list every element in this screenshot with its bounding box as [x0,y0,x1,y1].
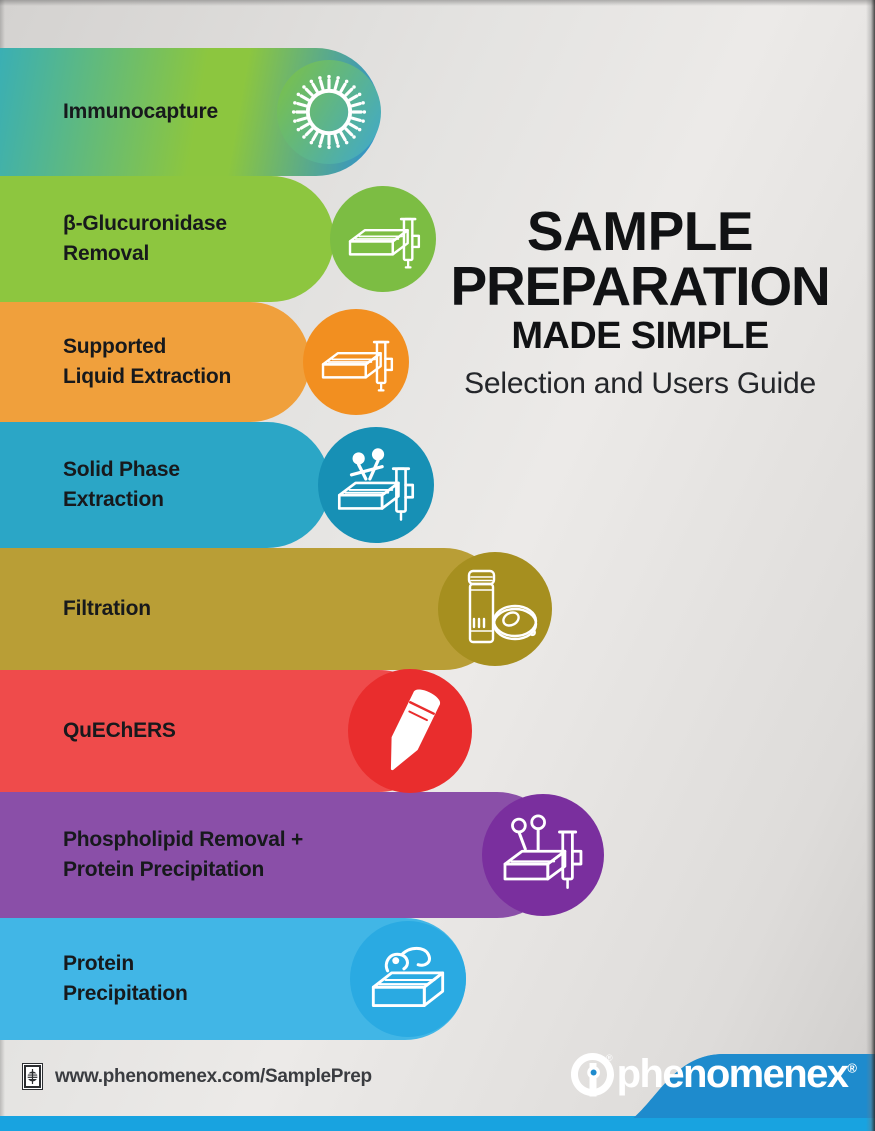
technique-bar-solid-phase-extraction[interactable]: Solid Phase Extraction [0,422,330,548]
phenomenex-wordmark: phenomenex® [617,1054,857,1094]
technique-label: Supported Liquid Extraction [63,332,231,392]
technique-bar-filtration[interactable]: Filtration [0,548,505,670]
technique-bar-supported-liquid-extraction[interactable]: Supported Liquid Extraction [0,302,310,422]
page-title-line-2: PREPARATION [430,258,850,314]
technique-label: Filtration [63,594,151,624]
brand-name-text: phenomenex [617,1052,848,1096]
qr-code-icon [22,1063,43,1090]
centrifuge-tube-icon [348,669,472,793]
technique-label: Solid Phase Extraction [63,455,180,515]
footer-url-label[interactable]: www.phenomenex.com/SamplePrep [55,1066,372,1088]
phenomenex-p-logo-icon: ® [569,1051,616,1098]
registered-mark: ® [847,1061,857,1076]
technique-bar-immunocapture[interactable]: Immunocapture [0,48,380,176]
page-title-line-1: SAMPLE [430,205,850,258]
well-plate-syringe-icon [303,309,409,415]
phospholipid-plate-icon [482,794,604,916]
technique-label: Phospholipid Removal + Protein Precipita… [63,825,303,885]
cover-title-block: SAMPLE PREPARATION MADE SIMPLE Selection… [430,205,850,403]
page-subtitle: Selection and Users Guide [430,365,850,403]
protein-plate-icon [350,921,466,1037]
page-title-line-3: MADE SIMPLE [430,315,850,359]
virus-particle-icon [277,60,381,164]
technique-bar-beta-glucuronidase-removal[interactable]: β-Glucuronidase Removal [0,176,334,302]
page-footer: www.phenomenex.com/SamplePrep ® phenomen… [0,1030,875,1131]
technique-bar-protein-precipitation[interactable]: Protein Precipitation [0,918,466,1040]
technique-bar-quechers[interactable]: QuEChERS [0,670,440,792]
brochure-cover-page: Immunocapture β-Glucuronidase Removal Su… [0,0,875,1131]
technique-bar-phospholipid-removal-protein-precipitation[interactable]: Phospholipid Removal + Protein Precipita… [0,792,560,918]
technique-label: QuEChERS [63,716,176,746]
technique-label: Immunocapture [63,97,218,127]
technique-bar-list: Immunocapture β-Glucuronidase Removal Su… [0,0,875,1040]
spe-manifold-icon [318,427,434,543]
well-plate-syringe-icon [330,186,436,292]
vial-and-filter-icon [438,552,552,666]
technique-label: β-Glucuronidase Removal [63,209,227,269]
svg-text:®: ® [606,1053,613,1063]
technique-label: Protein Precipitation [63,949,188,1009]
phenomenex-logo[interactable]: ® phenomenex® [569,1052,857,1096]
